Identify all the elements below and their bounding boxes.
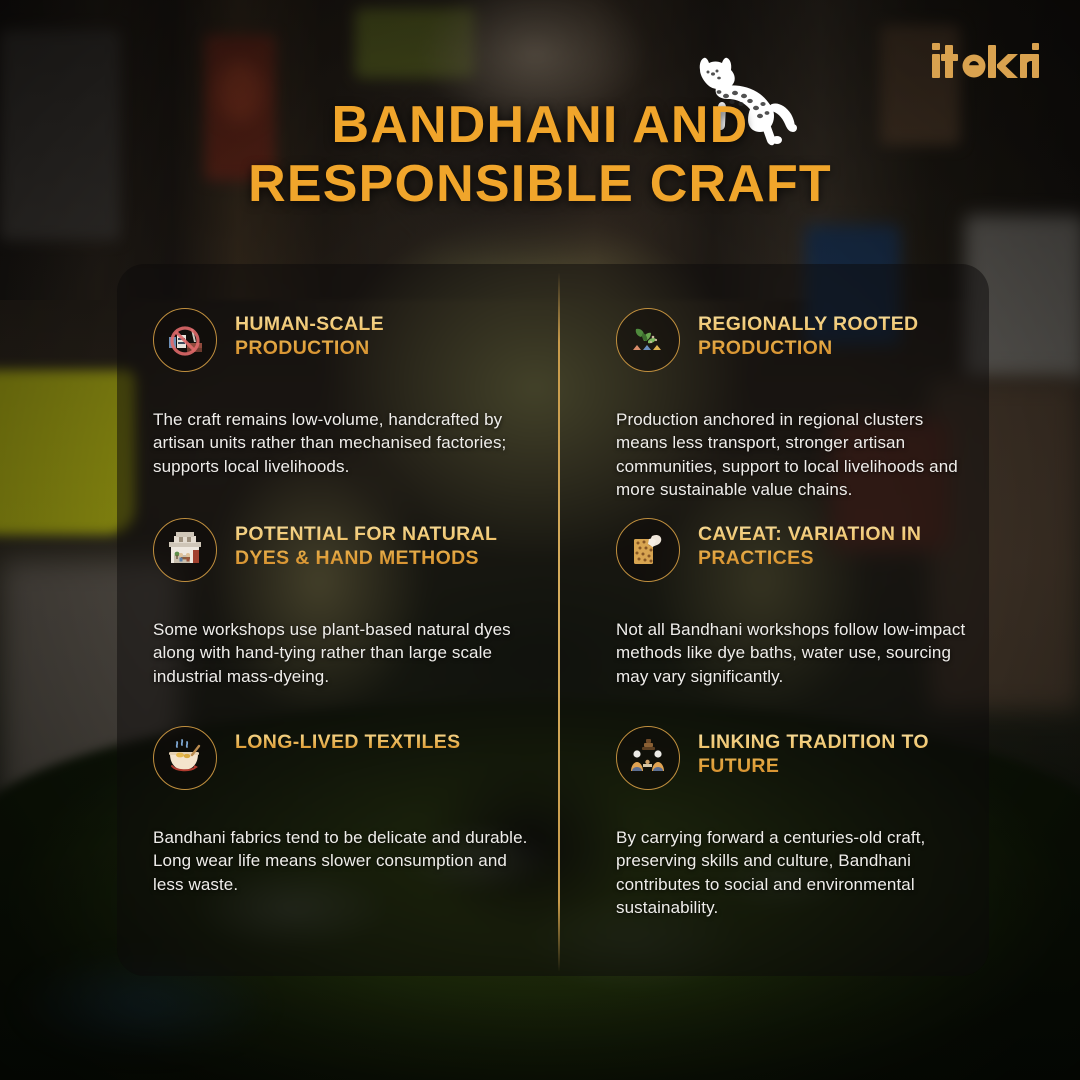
feature-card-regionally-rooted-production: REGIONALLY ROOTED PRODUCTION Production … [558,264,989,474]
infographic-poster: BANDHANI AND RESPONSIBLE CRAFT [0,0,1080,1080]
steaming-dye-pot-icon [153,726,217,790]
brand-logo[interactable] [930,40,1040,84]
feature-body: The craft remains low-volume, handcrafte… [153,408,540,478]
workshop-building-icon [153,518,217,582]
feature-title: REGIONALLY ROOTED PRODUCTION [698,312,958,360]
feature-title: LONG-LIVED TEXTILES [235,730,461,754]
feature-card-long-lived-textiles: LONG-LIVED TEXTILES Bandhani fabrics ten… [117,682,558,976]
feature-body: By carrying forward a centuries-old craf… [616,826,973,920]
title-line-2: RESPONSIBLE CRAFT [120,155,960,214]
feature-grid: HUMAN-SCALE PRODUCTION The craft remains… [117,264,989,976]
feature-card-caveat-variation-in-practices: CAVEAT: VARIATION IN PRACTICES Not all B… [558,474,989,682]
feature-title: LINKING TRADITION TO FUTURE [698,730,958,778]
page-title: BANDHANI AND RESPONSIBLE CRAFT [0,96,1080,215]
no-factory-icon [153,308,217,372]
feature-title: HUMAN-SCALE PRODUCTION [235,312,505,360]
feature-body: Not all Bandhani workshops follow low-im… [616,618,973,688]
title-line-1: BANDHANI AND [120,96,960,155]
hand-holding-fabric-icon [616,518,680,582]
feature-body: Bandhani fabrics tend to be delicate and… [153,826,540,896]
feature-body: Some workshops use plant-based natural d… [153,618,540,688]
feature-header: LONG-LIVED TEXTILES [153,724,540,790]
feature-header: CAVEAT: VARIATION IN PRACTICES [616,516,973,582]
feature-title: CAVEAT: VARIATION IN PRACTICES [698,522,958,570]
feature-title: POTENTIAL FOR NATURAL DYES & HAND METHOD… [235,522,505,570]
feature-card-human-scale-production: HUMAN-SCALE PRODUCTION The craft remains… [117,264,558,474]
feature-card-natural-dyes-hand-methods: POTENTIAL FOR NATURAL DYES & HAND METHOD… [117,474,558,682]
two-artisans-icon [616,726,680,790]
seedling-soil-icon [616,308,680,372]
feature-card-linking-tradition-to-future: LINKING TRADITION TO FUTURE By carrying … [558,682,989,976]
feature-header: POTENTIAL FOR NATURAL DYES & HAND METHOD… [153,516,540,582]
feature-header: HUMAN-SCALE PRODUCTION [153,306,540,372]
feature-header: LINKING TRADITION TO FUTURE [616,724,973,790]
feature-header: REGIONALLY ROOTED PRODUCTION [616,306,973,372]
